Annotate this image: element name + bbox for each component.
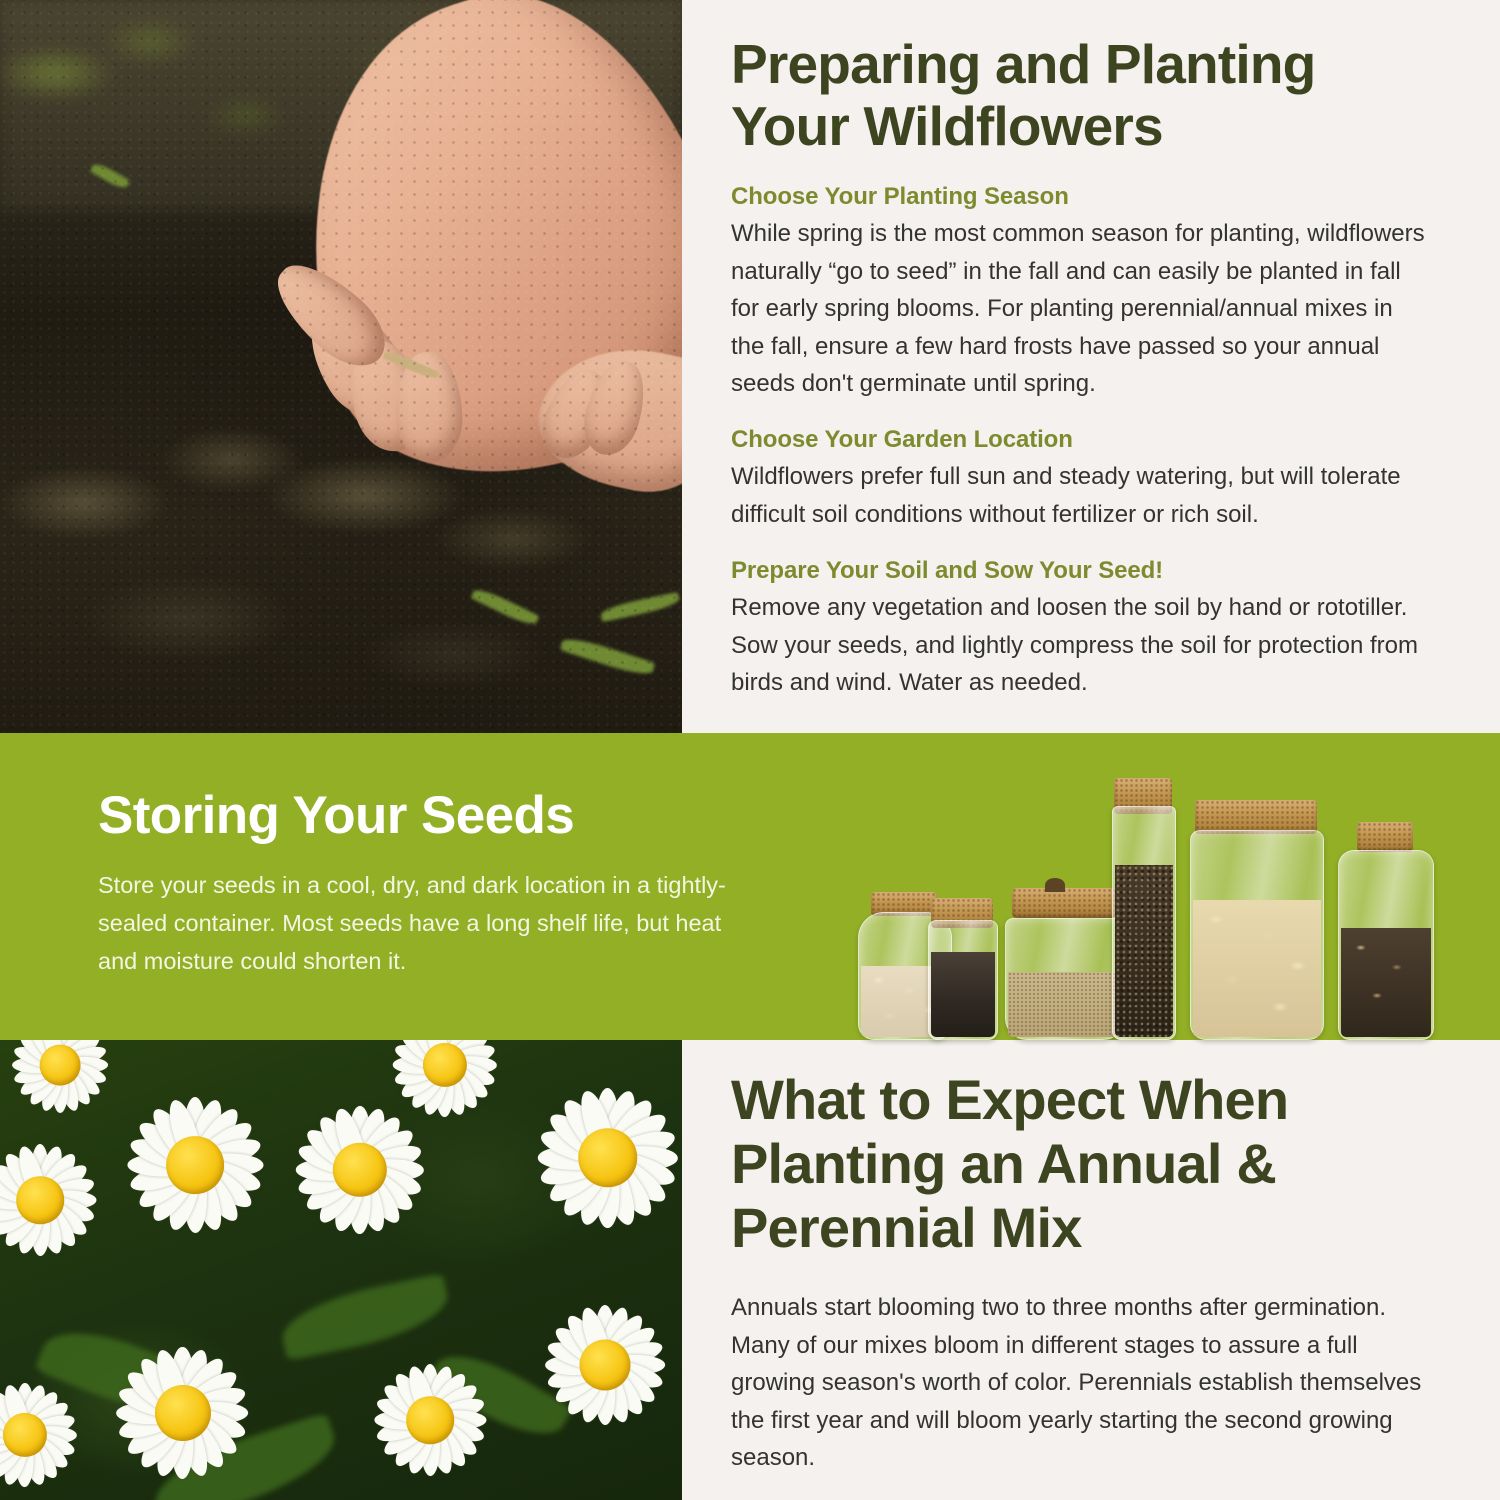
bottom-section-title: What to Expect When Planting an Annual &…	[731, 1068, 1431, 1259]
cork-lid-icon	[1195, 800, 1317, 834]
daisy-center	[578, 1128, 638, 1188]
seed-fill-dark	[1115, 865, 1173, 1037]
daisies-photo	[0, 1040, 682, 1500]
daisy-flower	[0, 1130, 110, 1270]
daisy-center	[40, 1045, 81, 1086]
daisy-flower	[530, 1290, 680, 1440]
daisy-flower	[100, 1330, 265, 1495]
top-text-column: Preparing and Planting Your Wildflowers …	[731, 34, 1431, 702]
daisy-center	[423, 1043, 467, 1087]
jar-black-seed	[928, 898, 996, 1040]
jar-fine-tan-seed	[1005, 888, 1123, 1040]
daisy-center	[580, 1340, 631, 1391]
daisy-center	[406, 1396, 454, 1444]
bottom-text-column: What to Expect When Planting an Annual &…	[731, 1068, 1431, 1477]
cork-lid-handle-icon	[1045, 878, 1065, 892]
daisy-center	[166, 1136, 224, 1194]
subheading-prepare-soil: Prepare Your Soil and Sow Your Seed!	[731, 557, 1431, 585]
daisy-flower	[360, 1350, 500, 1490]
page-title: Preparing and Planting Your Wildflowers	[731, 34, 1431, 157]
bottom-section-body: Annuals start blooming two to three mont…	[731, 1289, 1431, 1476]
daisy-flower	[110, 1080, 280, 1250]
paragraph-prepare-soil: Remove any vegetation and loosen the soi…	[731, 589, 1431, 701]
seed-jars-photo	[850, 765, 1450, 1040]
daisy-flower	[520, 1070, 682, 1245]
storing-seeds-text: Storing Your Seeds Store your seeds in a…	[98, 788, 748, 980]
storing-seeds-body: Store your seeds in a cool, dry, and dar…	[98, 866, 748, 980]
jar-sunflower-seeds	[1338, 822, 1432, 1040]
paragraph-planting-season: While spring is the most common season f…	[731, 215, 1431, 402]
daisy-flower	[0, 1040, 120, 1125]
subheading-planting-season: Choose Your Planting Season	[731, 183, 1431, 211]
seed-fill-black	[931, 952, 995, 1037]
paragraph-garden-location: Wildflowers prefer full sun and steady w…	[731, 458, 1431, 533]
jar-pumpkin-seeds	[1190, 800, 1322, 1040]
daisy-flower	[0, 1370, 90, 1500]
cork-lid-icon	[1357, 822, 1413, 852]
foliage-shape	[276, 1273, 454, 1361]
daisy-center	[3, 1413, 47, 1457]
cork-lid-icon	[1012, 888, 1116, 918]
daisy-center	[16, 1176, 64, 1224]
seed-fill-pumpkin	[1193, 900, 1321, 1037]
daisy-flower	[380, 1040, 510, 1130]
soil-texture	[0, 0, 682, 733]
seed-fill-sunflower	[1341, 928, 1431, 1037]
daisy-center	[154, 1384, 210, 1440]
storing-seeds-title: Storing Your Seeds	[98, 788, 748, 844]
infographic-page: Preparing and Planting Your Wildflowers …	[0, 0, 1500, 1500]
subheading-garden-location: Choose Your Garden Location	[731, 426, 1431, 454]
hand-sowing-seeds-photo	[0, 0, 682, 733]
seed-fill-tan	[1008, 972, 1122, 1037]
jar-tall-dark-seeds	[1112, 778, 1174, 1040]
